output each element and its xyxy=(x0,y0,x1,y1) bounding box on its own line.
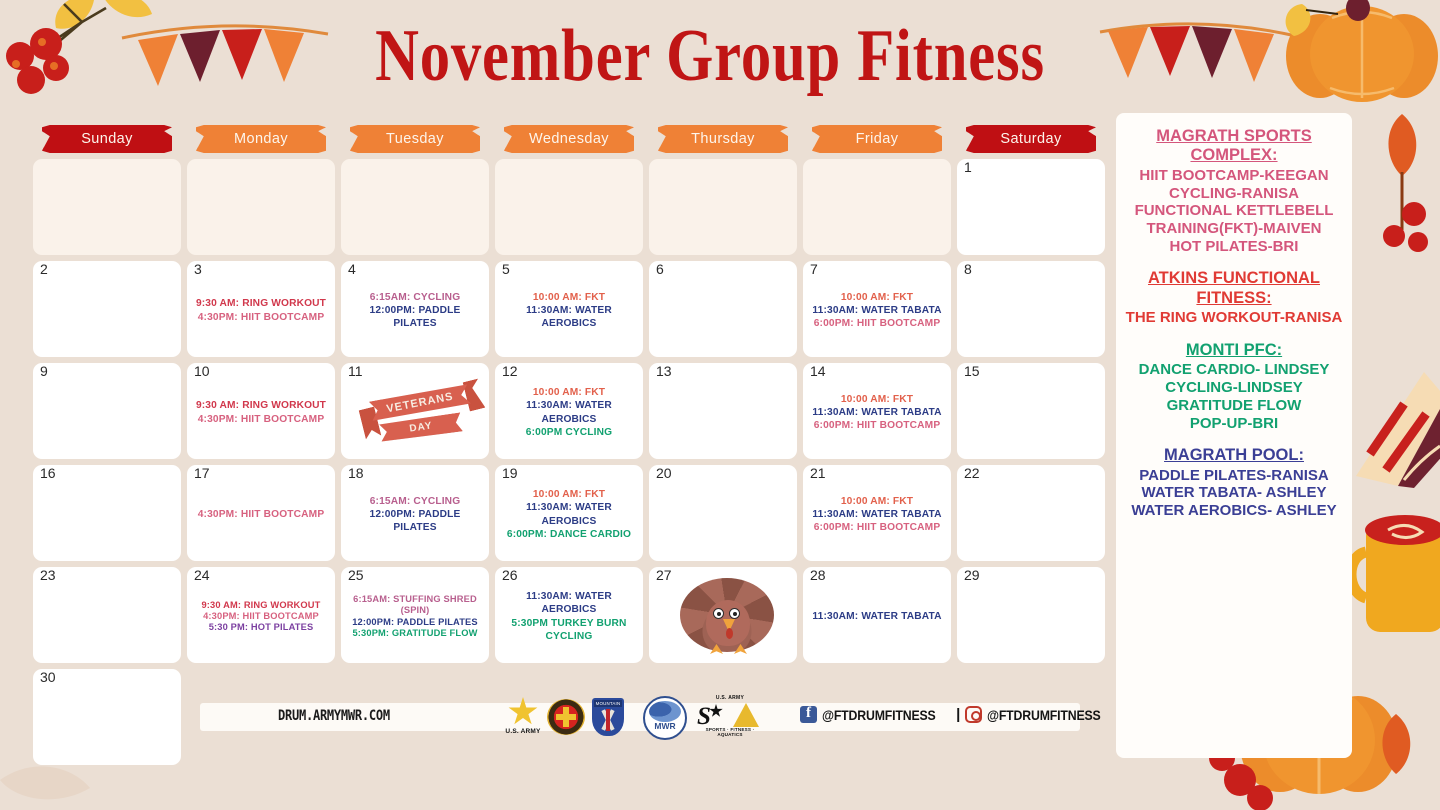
day-header-wednesday: Wednesday xyxy=(492,122,646,156)
day-events: 9:30 AM: RING WORKOUT4:30PM: HIIT BOOTCA… xyxy=(192,265,330,356)
ribbon-tail-icon-2 xyxy=(463,379,486,412)
calendar-cell-wrapper: 2110:00 AM: FKT11:30AM: WATER TABATA6:00… xyxy=(800,462,954,564)
calendar-grid: 1239:30 AM: RING WORKOUT4:30PM: HIIT BOO… xyxy=(30,156,1108,768)
legend-line: CYCLING-LINDSEY xyxy=(1124,379,1344,397)
day-events: 11:30AM: WATER TABATA xyxy=(808,571,946,662)
legend-line: POP-UP-BRI xyxy=(1124,415,1344,433)
legend-heading: MONTI PFC: xyxy=(1124,341,1344,360)
calendar-cell-wrapper: 174:30PM: HIIT BOOTCAMP xyxy=(184,462,338,564)
event-item[interactable]: 11:30AM: WATER TABATA xyxy=(810,610,944,623)
sfa-star-icon xyxy=(709,704,723,718)
legend-heading: MAGRATH POOL: xyxy=(1124,446,1344,465)
day-header-ribbon: Saturday xyxy=(966,125,1096,153)
calendar-day-15[interactable]: 15 xyxy=(957,363,1105,459)
instructor-legend-panel: MAGRATH SPORTS COMPLEX: HIIT BOOTCAMP-KE… xyxy=(1116,113,1352,758)
calendar-cell-wrapper: 11VETERANSDAY xyxy=(338,360,492,462)
day-number: 1 xyxy=(964,160,972,175)
website-url[interactable]: DRUM.ARMYMWR.COM xyxy=(278,708,390,724)
calendar-cell-wrapper: 186:15AM: CYCLING12:00PM: PADDLE PILATES xyxy=(338,462,492,564)
legend-line: FUNCTIONAL KETTLEBELL TRAINING(FKT)-MAIV… xyxy=(1124,202,1344,237)
day-header-friday: Friday xyxy=(800,122,954,156)
calendar-cell-wrapper: 1 xyxy=(954,156,1108,258)
event-item[interactable]: 10:00 AM: FKT xyxy=(810,291,944,304)
facebook-handle[interactable]: @FTDRUMFITNESS xyxy=(822,707,936,723)
calendar-cell-wrapper xyxy=(30,156,184,258)
calendar-day-8[interactable]: 8 xyxy=(957,261,1105,357)
day-number: 10 xyxy=(194,364,210,379)
calendar-cell-wrapper: 16 xyxy=(30,462,184,564)
day-number: 28 xyxy=(810,568,826,583)
event-item[interactable]: 12:00PM: PADDLE PILATES xyxy=(348,617,482,628)
event-item[interactable]: 11:30AM: WATER TABATA xyxy=(810,508,944,521)
footer: DRUM.ARMYMWR.COM U.S. ARMY MOUNTAIN MWR … xyxy=(200,703,1080,733)
us-army-star-logo: U.S. ARMY xyxy=(500,697,546,737)
legend-line: HIIT BOOTCAMP-KEEGAN xyxy=(1124,167,1344,185)
day-events: 6:15AM: CYCLING12:00PM: PADDLE PILATES xyxy=(346,265,484,356)
calendar-cell-wrapper: 510:00 AM: FKT11:30AM: WATER AEROBICS xyxy=(492,258,646,360)
day-events: 9:30 AM: RING WORKOUT4:30PM: HIIT BOOTCA… xyxy=(192,367,330,458)
calendar-day-3[interactable]: 39:30 AM: RING WORKOUT4:30PM: HIIT BOOTC… xyxy=(187,261,335,357)
event-item[interactable]: 12:00PM: PADDLE PILATES xyxy=(348,508,482,534)
event-item[interactable]: 4:30PM: HIIT BOOTCAMP xyxy=(194,611,328,622)
calendar-cell-wrapper: 30 xyxy=(30,666,184,768)
calendar-day-26[interactable]: 2611:30AM: WATER AEROBICS5:30PM TURKEY B… xyxy=(495,567,643,663)
event-item[interactable]: 12:00PM: PADDLE PILATES xyxy=(348,304,482,330)
legend-heading: ATKINS FUNCTIONAL FITNESS: xyxy=(1124,269,1344,308)
day-header-ribbon: Tuesday xyxy=(350,125,480,153)
event-item[interactable]: 6:15AM: CYCLING xyxy=(348,291,482,304)
instagram-icon[interactable] xyxy=(965,706,982,723)
event-item[interactable]: 4:30PM: HIIT BOOTCAMP xyxy=(194,413,328,426)
hot-drink-mug-decoration xyxy=(1348,500,1440,660)
day-number: 16 xyxy=(40,466,56,481)
social-separator: | xyxy=(956,706,960,723)
turkey-pupil-left-icon xyxy=(717,612,721,616)
legend-line: HOT PILATES-BRI xyxy=(1124,238,1344,256)
day-number: 5 xyxy=(502,262,510,277)
day-number: 20 xyxy=(656,466,672,481)
event-item[interactable]: 10:00 AM: FKT xyxy=(502,488,636,501)
event-item[interactable]: 10:00 AM: FKT xyxy=(502,291,636,304)
day-number: 24 xyxy=(194,568,210,583)
calendar-day-headers: SundayMondayTuesdayWednesdayThursdayFrid… xyxy=(30,122,1108,156)
calendar-cell-wrapper xyxy=(646,156,800,258)
day-header-monday: Monday xyxy=(184,122,338,156)
event-item[interactable]: 6:00PM: HIIT BOOTCAMP xyxy=(810,419,944,432)
event-item[interactable]: 6:00PM CYCLING xyxy=(502,426,636,439)
event-item[interactable]: 10:00 AM: FKT xyxy=(810,495,944,508)
calendar-day-27[interactable]: 27 xyxy=(649,567,797,663)
day-number: 30 xyxy=(40,670,56,685)
day-number: 4 xyxy=(348,262,356,277)
day-number: 29 xyxy=(964,568,980,583)
calendar-cell-wrapper: 8 xyxy=(954,258,1108,360)
calendar-cell-wrapper: 20 xyxy=(646,462,800,564)
calendar-day-5[interactable]: 510:00 AM: FKT11:30AM: WATER AEROBICS xyxy=(495,261,643,357)
day-number: 23 xyxy=(40,568,56,583)
day-header-sunday: Sunday xyxy=(30,122,184,156)
turkey-wattle-icon xyxy=(726,628,733,639)
turkey-graphic xyxy=(654,570,792,661)
sfa-s-letter-icon: S xyxy=(697,703,711,731)
calendar-cell-wrapper: 1910:00 AM: FKT11:30AM: WATER AEROBICS6:… xyxy=(492,462,646,564)
event-item[interactable]: 6:00PM: HIIT BOOTCAMP xyxy=(810,317,944,330)
day-number: 9 xyxy=(40,364,48,379)
event-item[interactable]: 6:00PM: DANCE CARDIO xyxy=(502,528,636,541)
day-number: 6 xyxy=(656,262,664,277)
day-number: 25 xyxy=(348,568,364,583)
legend-line: PADDLE PILATES-RANISA xyxy=(1124,467,1344,485)
calendar-day-30[interactable]: 30 xyxy=(33,669,181,765)
calendar-day-29[interactable]: 29 xyxy=(957,567,1105,663)
day-number: 2 xyxy=(40,262,48,277)
calendar-cell-wrapper: 109:30 AM: RING WORKOUT4:30PM: HIIT BOOT… xyxy=(184,360,338,462)
legend-line: DANCE CARDIO- LINDSEY xyxy=(1124,361,1344,379)
calendar-day-14[interactable]: 1410:00 AM: FKT11:30AM: WATER TABATA6:00… xyxy=(803,363,951,459)
calendar-day-22[interactable]: 22 xyxy=(957,465,1105,561)
day-number: 12 xyxy=(502,364,518,379)
day-events: 10:00 AM: FKT11:30AM: WATER TABATA6:00PM… xyxy=(808,265,946,356)
day-events: 10:00 AM: FKT11:30AM: WATER AEROBICS6:00… xyxy=(500,367,638,458)
legend-line: THE RING WORKOUT-RANISA xyxy=(1124,309,1344,327)
calendar-cell-wrapper: 710:00 AM: FKT11:30AM: WATER TABATA6:00P… xyxy=(800,258,954,360)
calendar-day-placeholder[interactable] xyxy=(649,159,797,255)
event-item[interactable]: 9:30 AM: RING WORKOUT xyxy=(194,399,328,412)
calendar-day-28[interactable]: 2811:30AM: WATER TABATA xyxy=(803,567,951,663)
day-number: 7 xyxy=(810,262,818,277)
day-events: 6:15AM: CYCLING12:00PM: PADDLE PILATES xyxy=(346,469,484,560)
calendar-day-1[interactable]: 1 xyxy=(957,159,1105,255)
calendar-day-placeholder[interactable] xyxy=(33,159,181,255)
calendar-day-24[interactable]: 249:30 AM: RING WORKOUT4:30PM: HIIT BOOT… xyxy=(187,567,335,663)
event-item[interactable]: 6:15AM: STUFFING SHRED (SPIN) xyxy=(348,594,482,617)
day-number: 13 xyxy=(656,364,672,379)
tenth-mountain-division-patch: MOUNTAIN xyxy=(592,698,624,736)
calendar-day-20[interactable]: 20 xyxy=(649,465,797,561)
calendar-cell-wrapper: 2811:30AM: WATER TABATA xyxy=(800,564,954,666)
calendar-day-placeholder[interactable] xyxy=(495,159,643,255)
legend-block-monti: MONTI PFC: DANCE CARDIO- LINDSEYCYCLING-… xyxy=(1124,341,1344,432)
calendar-cell-wrapper xyxy=(184,156,338,258)
day-events: 4:30PM: HIIT BOOTCAMP xyxy=(192,469,330,560)
calendar-day-12[interactable]: 1210:00 AM: FKT11:30AM: WATER AEROBICS6:… xyxy=(495,363,643,459)
calendar-day-16[interactable]: 16 xyxy=(33,465,181,561)
day-header-ribbon: Sunday xyxy=(42,125,172,153)
calendar-cell-wrapper: 23 xyxy=(30,564,184,666)
calendar-cell-wrapper: 15 xyxy=(954,360,1108,462)
calendar-cell-wrapper: 22 xyxy=(954,462,1108,564)
calendar-day-17[interactable]: 174:30PM: HIIT BOOTCAMP xyxy=(187,465,335,561)
veterans-day-graphic: VETERANSDAY xyxy=(346,366,484,457)
event-item[interactable]: 5:30PM TURKEY BURN CYCLING xyxy=(502,617,636,643)
day-events: 10:00 AM: FKT11:30AM: WATER TABATA6:00PM… xyxy=(808,469,946,560)
event-item[interactable]: 6:00PM: HIIT BOOTCAMP xyxy=(810,521,944,534)
day-header-tuesday: Tuesday xyxy=(338,122,492,156)
day-number: 14 xyxy=(810,364,826,379)
turkey-pupil-right-icon xyxy=(733,612,737,616)
social-media-links: @FTDRUMFITNESS | @FTDRUMFITNESS xyxy=(800,706,1116,723)
crest-cross-vertical-icon xyxy=(563,707,569,727)
calendar-day-23[interactable]: 23 xyxy=(33,567,181,663)
calendar-cell-wrapper: 2611:30AM: WATER AEROBICS5:30PM TURKEY B… xyxy=(492,564,646,666)
day-number: 8 xyxy=(964,262,972,277)
day-number: 17 xyxy=(194,466,210,481)
day-number: 15 xyxy=(964,364,980,379)
day-header-ribbon: Monday xyxy=(196,125,326,153)
day-header-ribbon: Thursday xyxy=(658,125,788,153)
calendar-cell-wrapper: 9 xyxy=(30,360,184,462)
day-header-ribbon: Wednesday xyxy=(504,125,634,153)
calendar-day-2[interactable]: 2 xyxy=(33,261,181,357)
event-item[interactable]: 5:30 PM: HOT PILATES xyxy=(194,622,328,633)
event-item[interactable]: 11:30AM: WATER AEROBICS xyxy=(502,590,636,616)
calendar-day-21[interactable]: 2110:00 AM: FKT11:30AM: WATER TABATA6:00… xyxy=(803,465,951,561)
event-item[interactable]: 11:30AM: WATER AEROBICS xyxy=(502,399,636,425)
calendar-day-6[interactable]: 6 xyxy=(649,261,797,357)
calendar-cell-wrapper: 13 xyxy=(646,360,800,462)
event-item[interactable]: 11:30AM: WATER TABATA xyxy=(810,304,944,317)
calendar-day-4[interactable]: 46:15AM: CYCLING12:00PM: PADDLE PILATES xyxy=(341,261,489,357)
garrison-crest-logo xyxy=(547,699,585,735)
day-number: 22 xyxy=(964,466,980,481)
event-item[interactable]: 6:15AM: CYCLING xyxy=(348,495,482,508)
calendar: SundayMondayTuesdayWednesdayThursdayFrid… xyxy=(30,122,1108,768)
legend-line: WATER TABATA- ASHLEY xyxy=(1124,484,1344,502)
calendar-cell-wrapper: 2 xyxy=(30,258,184,360)
legend-line: GRATITUDE FLOW xyxy=(1124,397,1344,415)
calendar-cell-wrapper xyxy=(800,156,954,258)
us-army-caption: U.S. ARMY xyxy=(500,728,546,735)
day-events: 10:00 AM: FKT11:30AM: WATER AEROBICS xyxy=(500,265,638,356)
calendar-cell-wrapper xyxy=(338,156,492,258)
day-events: 9:30 AM: RING WORKOUT4:30PM: HIIT BOOTCA… xyxy=(192,571,330,662)
event-item[interactable]: 11:30AM: WATER TABATA xyxy=(810,406,944,419)
day-events: 10:00 AM: FKT11:30AM: WATER TABATA6:00PM… xyxy=(808,367,946,458)
calendar-cell-wrapper: 6 xyxy=(646,258,800,360)
calendar-day-25[interactable]: 256:15AM: STUFFING SHRED (SPIN)12:00PM: … xyxy=(341,567,489,663)
calendar-cell-wrapper: 39:30 AM: RING WORKOUT4:30PM: HIIT BOOTC… xyxy=(184,258,338,360)
day-number: 26 xyxy=(502,568,518,583)
calendar-day-19[interactable]: 1910:00 AM: FKT11:30AM: WATER AEROBICS6:… xyxy=(495,465,643,561)
calendar-day-9[interactable]: 9 xyxy=(33,363,181,459)
day-number: 19 xyxy=(502,466,518,481)
legend-block-atkins: ATKINS FUNCTIONAL FITNESS:THE RING WORKO… xyxy=(1124,269,1344,327)
calendar-day-placeholder[interactable] xyxy=(187,159,335,255)
calendar-day-placeholder[interactable] xyxy=(341,159,489,255)
calendar-cell-wrapper: 1210:00 AM: FKT11:30AM: WATER AEROBICS6:… xyxy=(492,360,646,462)
star-icon xyxy=(508,697,538,727)
calendar-cell-wrapper: 27 xyxy=(646,564,800,666)
day-events: 10:00 AM: FKT11:30AM: WATER AEROBICS6:00… xyxy=(500,469,638,560)
event-item[interactable]: 5:30PM: GRATITUDE FLOW xyxy=(348,628,482,639)
sports-fitness-aquatics-logo: U.S. ARMY S SPORTS · FITNESS · AQUATICS xyxy=(693,695,767,739)
page-header: November Group Fitness xyxy=(0,0,1440,120)
facebook-icon[interactable] xyxy=(800,706,817,723)
red-bar-icon xyxy=(606,709,610,731)
calendar-day-7[interactable]: 710:00 AM: FKT11:30AM: WATER TABATA6:00P… xyxy=(803,261,951,357)
calendar-day-11[interactable]: 11VETERANSDAY xyxy=(341,363,489,459)
legend-line: CYCLING-RANISA xyxy=(1124,185,1344,203)
day-events: 6:15AM: STUFFING SHRED (SPIN)12:00PM: PA… xyxy=(346,571,484,662)
calendar-cell-wrapper: 256:15AM: STUFFING SHRED (SPIN)12:00PM: … xyxy=(338,564,492,666)
calendar-cell-wrapper: 1410:00 AM: FKT11:30AM: WATER TABATA6:00… xyxy=(800,360,954,462)
legend-heading: MAGRATH SPORTS COMPLEX: xyxy=(1124,127,1344,166)
day-number: 18 xyxy=(348,466,364,481)
calendar-day-13[interactable]: 13 xyxy=(649,363,797,459)
instagram-handle[interactable]: @FTDRUMFITNESS xyxy=(987,707,1101,723)
day-events: 11:30AM: WATER AEROBICS5:30PM TURKEY BUR… xyxy=(500,571,638,662)
calendar-cell-wrapper: 249:30 AM: RING WORKOUT4:30PM: HIIT BOOT… xyxy=(184,564,338,666)
event-item[interactable]: 4:30PM: HIIT BOOTCAMP xyxy=(194,508,328,521)
event-item[interactable]: 10:00 AM: FKT xyxy=(502,386,636,399)
event-item[interactable]: 11:30AM: WATER AEROBICS xyxy=(502,501,636,527)
day-number: 21 xyxy=(810,466,826,481)
page-title: November Group Fitness xyxy=(374,18,1046,96)
mwr-label: MWR xyxy=(645,721,685,731)
day-header-ribbon: Friday xyxy=(812,125,942,153)
calendar-day-placeholder[interactable] xyxy=(803,159,951,255)
day-number: 3 xyxy=(194,262,202,277)
sfa-mark: S xyxy=(693,701,767,727)
day-header-saturday: Saturday xyxy=(954,122,1108,156)
event-item[interactable]: 4:30PM: HIIT BOOTCAMP xyxy=(194,311,328,324)
calendar-day-18[interactable]: 186:15AM: CYCLING12:00PM: PADDLE PILATES xyxy=(341,465,489,561)
event-item[interactable]: 9:30 AM: RING WORKOUT xyxy=(194,297,328,310)
sfa-a-letter-icon xyxy=(733,703,759,727)
day-header-thursday: Thursday xyxy=(646,122,800,156)
oak-leaf-decoration xyxy=(1372,110,1440,260)
event-item[interactable]: 11:30AM: WATER AEROBICS xyxy=(502,304,636,330)
calendar-day-10[interactable]: 109:30 AM: RING WORKOUT4:30PM: HIIT BOOT… xyxy=(187,363,335,459)
mwr-globe-logo: MWR xyxy=(643,696,687,740)
legend-line: WATER AEROBICS- ASHLEY xyxy=(1124,502,1344,520)
event-item[interactable]: 10:00 AM: FKT xyxy=(810,393,944,406)
mountain-tab-label: MOUNTAIN xyxy=(594,700,622,707)
calendar-cell-wrapper xyxy=(492,156,646,258)
calendar-cell-wrapper: 46:15AM: CYCLING12:00PM: PADDLE PILATES xyxy=(338,258,492,360)
legend-block-magrath: MAGRATH SPORTS COMPLEX: HIIT BOOTCAMP-KE… xyxy=(1124,127,1344,255)
event-item[interactable]: 9:30 AM: RING WORKOUT xyxy=(194,600,328,611)
calendar-page: November Group Fitness SundayMondayTuesd… xyxy=(0,0,1440,810)
globe-icon xyxy=(649,701,681,722)
legend-block-pool: MAGRATH POOL: PADDLE PILATES-RANISAWATER… xyxy=(1124,446,1344,520)
calendar-cell-wrapper: 29 xyxy=(954,564,1108,666)
pie-slice-decoration xyxy=(1352,368,1440,488)
